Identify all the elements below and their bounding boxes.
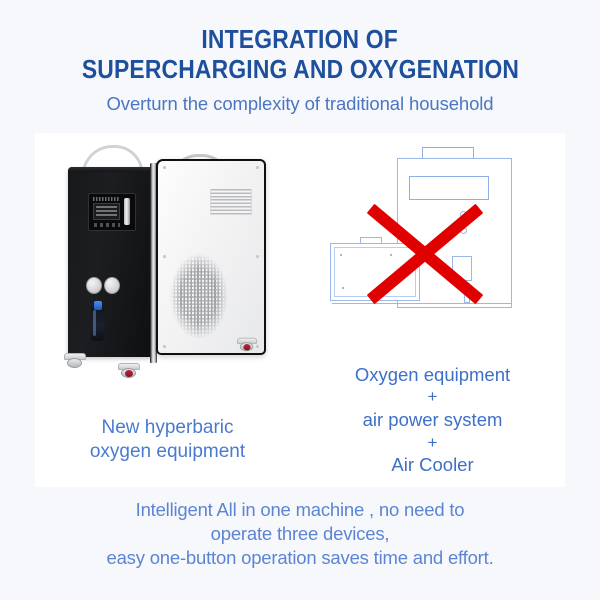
footer: Intelligent All in one machine , no need… bbox=[0, 498, 600, 570]
machine-knob-left bbox=[86, 277, 102, 294]
right-caption-line-2: air power system bbox=[300, 408, 565, 431]
left-caption: New hyperbaric oxygen equipment bbox=[35, 416, 300, 464]
header: INTEGRATION OF SUPERCHARGING AND OXYGENA… bbox=[0, 0, 600, 130]
right-caption-plus-1: + bbox=[300, 386, 565, 408]
lineart-base-line bbox=[332, 303, 512, 304]
control-panel-lever-icon bbox=[124, 198, 130, 225]
control-panel-indicator-strip bbox=[93, 197, 119, 201]
lineart-port-circle bbox=[460, 227, 467, 234]
machine-caster-wheel bbox=[118, 363, 140, 378]
control-panel-buttons bbox=[94, 223, 120, 227]
title-line-2: SUPERCHARGING AND OXYGENATION bbox=[81, 56, 518, 84]
lineart-foot bbox=[464, 292, 470, 303]
right-caption-line-1: Oxygen equipment bbox=[300, 363, 565, 386]
machine-caster-wheel bbox=[64, 353, 86, 368]
machine-caster-wheel bbox=[237, 338, 257, 352]
right-caption-line-3: Air Cooler bbox=[300, 453, 565, 476]
lineart-lower-unit-inner bbox=[334, 247, 416, 297]
machine-fan-grille bbox=[170, 253, 228, 339]
machine-front-panel bbox=[68, 167, 152, 357]
machine-side-panel bbox=[156, 159, 266, 355]
hyperbaric-oxygen-machine-illustration bbox=[60, 141, 275, 386]
machine-humidifier-bottle bbox=[91, 307, 104, 341]
left-caption-line-2: oxygen equipment bbox=[35, 440, 300, 464]
lineart-side-box bbox=[452, 256, 472, 281]
machine-control-panel bbox=[88, 193, 136, 231]
lineart-port-circle bbox=[460, 211, 467, 218]
lineart-display-panel bbox=[409, 176, 489, 200]
bottle-cap bbox=[94, 301, 102, 310]
left-panel: New hyperbaric oxygen equipment bbox=[35, 133, 300, 487]
footer-line-3: easy one-button operation saves time and… bbox=[0, 546, 600, 570]
subtitle: Overturn the complexity of traditional h… bbox=[107, 93, 494, 115]
machine-slat-vent bbox=[210, 189, 252, 215]
promo-banner: INTEGRATION OF SUPERCHARGING AND OXYGENA… bbox=[0, 0, 600, 600]
title-line-1: INTEGRATION OF bbox=[202, 26, 399, 54]
right-caption-plus-2: + bbox=[300, 432, 565, 454]
legacy-equipment-lineart bbox=[312, 137, 552, 357]
footer-line-1: Intelligent All in one machine , no need… bbox=[0, 498, 600, 522]
left-caption-line-1: New hyperbaric bbox=[35, 416, 300, 440]
right-panel: Oxygen equipment + air power system + Ai… bbox=[300, 133, 565, 487]
right-caption: Oxygen equipment + air power system + Ai… bbox=[300, 363, 565, 477]
footer-line-2: operate three devices, bbox=[0, 522, 600, 546]
machine-knob-right bbox=[104, 277, 120, 294]
control-panel-display bbox=[93, 203, 120, 220]
